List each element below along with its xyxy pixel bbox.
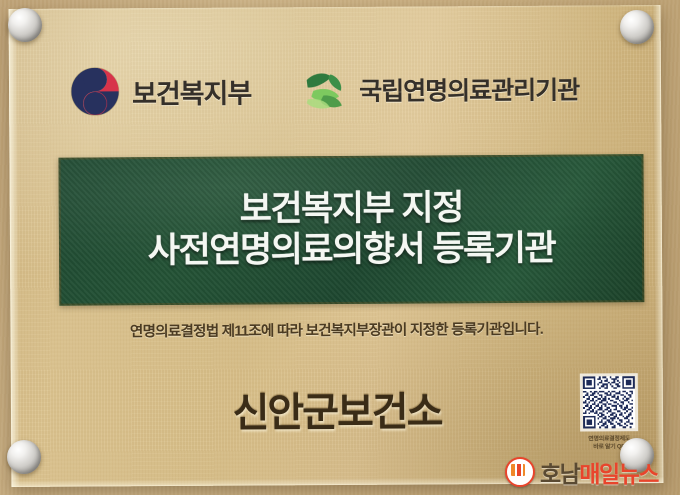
standoff-screw-top-right — [620, 10, 654, 44]
plaque-header: 보건복지부 국립연명의료관리기관 — [69, 57, 629, 122]
standoff-screw-top-left — [8, 8, 42, 42]
designation-banner: 보건복지부 지정 사전연명의료의향서 등록기관 — [58, 154, 644, 306]
standoff-screw-bottom-left — [7, 440, 41, 474]
qr-code-icon[interactable] — [580, 373, 638, 431]
institute-label: 국립연명의료관리기관 — [359, 71, 579, 108]
green-leaf-logo-icon — [303, 66, 349, 114]
legal-note: 연명의료결정법 제11조에 따라 보건복지부장관이 지정한 등록기관입니다. — [10, 317, 662, 342]
watermark-text-red: 매일뉴스 — [579, 461, 658, 487]
honam-news-logo-icon — [505, 457, 535, 487]
watermark-text-dark: 호남 — [540, 461, 579, 487]
ministry-logo-block: 보건복지부 — [69, 65, 252, 118]
ministry-label: 보건복지부 — [132, 71, 251, 111]
banner-line-1: 보건복지부 지정 — [240, 189, 463, 231]
institute-logo-block: 국립연명의료관리기관 — [303, 65, 579, 115]
certification-plaque: 보건복지부 국립연명의료관리기관 보건복지부 지정 — [9, 5, 664, 487]
institution-name: 신안군보건소 — [11, 378, 663, 440]
news-watermark: 호남매일뉴스 — [505, 455, 658, 489]
watermark-text: 호남매일뉴스 — [540, 455, 658, 489]
screenshot-root: 보건복지부 국립연명의료관리기관 보건복지부 지정 — [0, 0, 680, 495]
taegeuk-emblem-icon — [69, 65, 121, 117]
banner-line-2: 사전연명의료의향서 등록기관 — [148, 229, 556, 272]
